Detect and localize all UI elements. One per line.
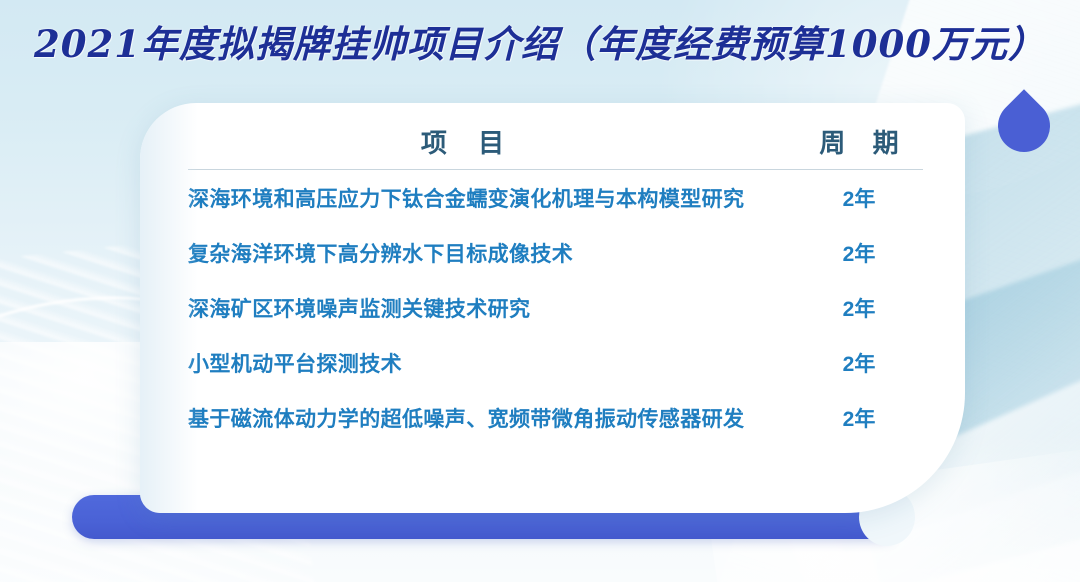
- project-name: 深海矿区环境噪声监测关键技术研究: [188, 293, 795, 323]
- table-row: 深海矿区环境噪声监测关键技术研究 2年: [188, 280, 923, 335]
- project-cycle: 2年: [795, 348, 923, 378]
- project-name: 小型机动平台探测技术: [188, 348, 795, 378]
- slide-title: 2021年度拟揭牌挂帅项目介绍（年度经费预算1000万元）: [0, 14, 1080, 68]
- project-name: 复杂海洋环境下高分辨水下目标成像技术: [188, 238, 795, 268]
- projects-table: 项 目 周 期 深海环境和高压应力下钛合金蠕变演化机理与本构模型研究 2年 复杂…: [188, 123, 923, 445]
- column-header-project: 项 目: [188, 123, 795, 160]
- table-header-row: 项 目 周 期: [188, 123, 923, 170]
- table-row: 复杂海洋环境下高分辨水下目标成像技术 2年: [188, 225, 923, 280]
- column-header-cycle: 周 期: [795, 123, 923, 160]
- project-name: 基于磁流体动力学的超低噪声、宽频带微角振动传感器研发: [188, 403, 795, 433]
- project-cycle: 2年: [795, 293, 923, 323]
- table-row: 基于磁流体动力学的超低噪声、宽频带微角振动传感器研发 2年: [188, 390, 923, 445]
- table-row: 深海环境和高压应力下钛合金蠕变演化机理与本构模型研究 2年: [188, 170, 923, 225]
- project-cycle: 2年: [795, 403, 923, 433]
- table-row: 小型机动平台探测技术 2年: [188, 335, 923, 390]
- project-name: 深海环境和高压应力下钛合金蠕变演化机理与本构模型研究: [188, 183, 795, 213]
- project-cycle: 2年: [795, 183, 923, 213]
- project-cycle: 2年: [795, 238, 923, 268]
- content-card: 项 目 周 期 深海环境和高压应力下钛合金蠕变演化机理与本构模型研究 2年 复杂…: [140, 103, 965, 513]
